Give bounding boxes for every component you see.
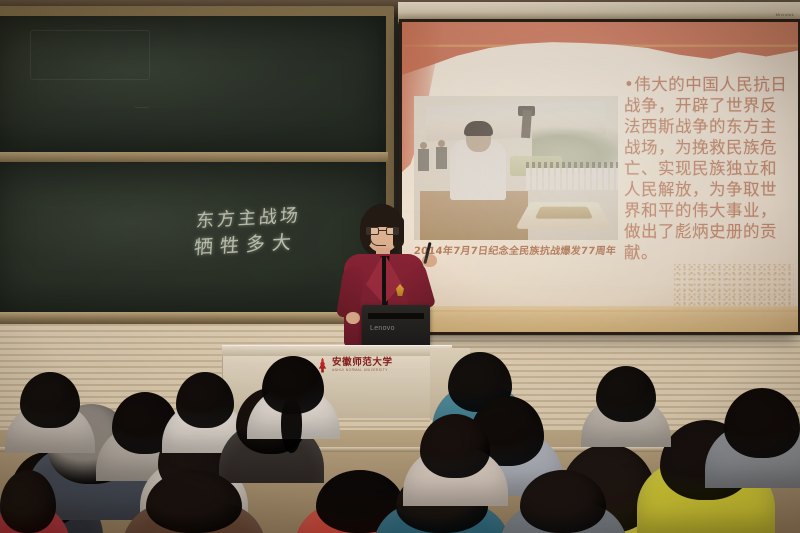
audience-head [146, 470, 242, 533]
audience-person [20, 372, 80, 428]
university-name-cn: 安徽师范大学 [332, 358, 393, 368]
photo-microphone-stand [521, 110, 532, 139]
monitor-vent [368, 313, 424, 319]
glasses-icon [366, 227, 399, 235]
blackboard-upper-panel [0, 16, 386, 152]
projection-screen: 2014年7月7日纪念全民族抗战爆发77周年 •伟大的中国人民抗日战争，开辟了世… [402, 22, 798, 332]
audience-head [596, 366, 656, 422]
audience-head [20, 372, 80, 428]
lecture-hall-scene: 东方主战场 牺牲多大 Microtek [0, 0, 800, 533]
audience-person [596, 366, 656, 422]
slide-body-text: •伟大的中国人民抗日战争，开辟了世界反法西斯战争的东方主战场，为挽救民族危亡、实… [624, 74, 792, 263]
photo-speaker-hair [464, 121, 493, 136]
presentation-slide: 2014年7月7日纪念全民族抗战爆发77周年 •伟大的中国人民抗日战争，开辟了世… [402, 22, 798, 332]
presenter-hand-left [346, 312, 360, 324]
housing-brand-label: Microtek [776, 12, 794, 17]
audience-person [176, 372, 234, 428]
projector-screen-housing: Microtek [398, 2, 800, 24]
audience-person [0, 470, 56, 533]
photo-honor-guard [436, 140, 447, 169]
slide-grain-texture [674, 264, 794, 310]
university-name-en: ANHUI NORMAL UNIVERSITY [332, 368, 393, 372]
blackboard-lower-panel [0, 162, 386, 314]
chalk-smudge [134, 62, 150, 108]
audience-person [420, 414, 490, 478]
monitor-brand-label: Lenovo [370, 325, 395, 332]
blackboard-divider [0, 152, 388, 162]
audience-head [420, 414, 490, 478]
podium-monitor: Lenovo [362, 305, 430, 349]
photo-crowd-row [526, 168, 618, 190]
slide-footer-band [402, 306, 798, 332]
photo-wreath-inner [535, 207, 593, 219]
slide-photo [414, 96, 618, 240]
university-name-group: 安徽师范大学 ANHUI NORMAL UNIVERSITY [332, 358, 393, 372]
university-branding: 安徽师范大学 ANHUI NORMAL UNIVERSITY [316, 356, 434, 374]
audience-person [520, 470, 606, 533]
audience-head [176, 372, 234, 428]
audience-person [262, 356, 324, 414]
audience-person [146, 470, 242, 533]
audience-ponytail [281, 398, 302, 453]
audience-head [520, 470, 606, 533]
headset-mic-icon [370, 236, 386, 246]
slide-photo-caption: 2014年7月7日纪念全民族抗战爆发77周年 [413, 242, 617, 257]
chalk-smudge [30, 30, 150, 80]
audience-head [724, 388, 800, 458]
photo-honor-guard [418, 142, 429, 171]
audience-person [724, 388, 800, 458]
audience-head [0, 470, 56, 533]
